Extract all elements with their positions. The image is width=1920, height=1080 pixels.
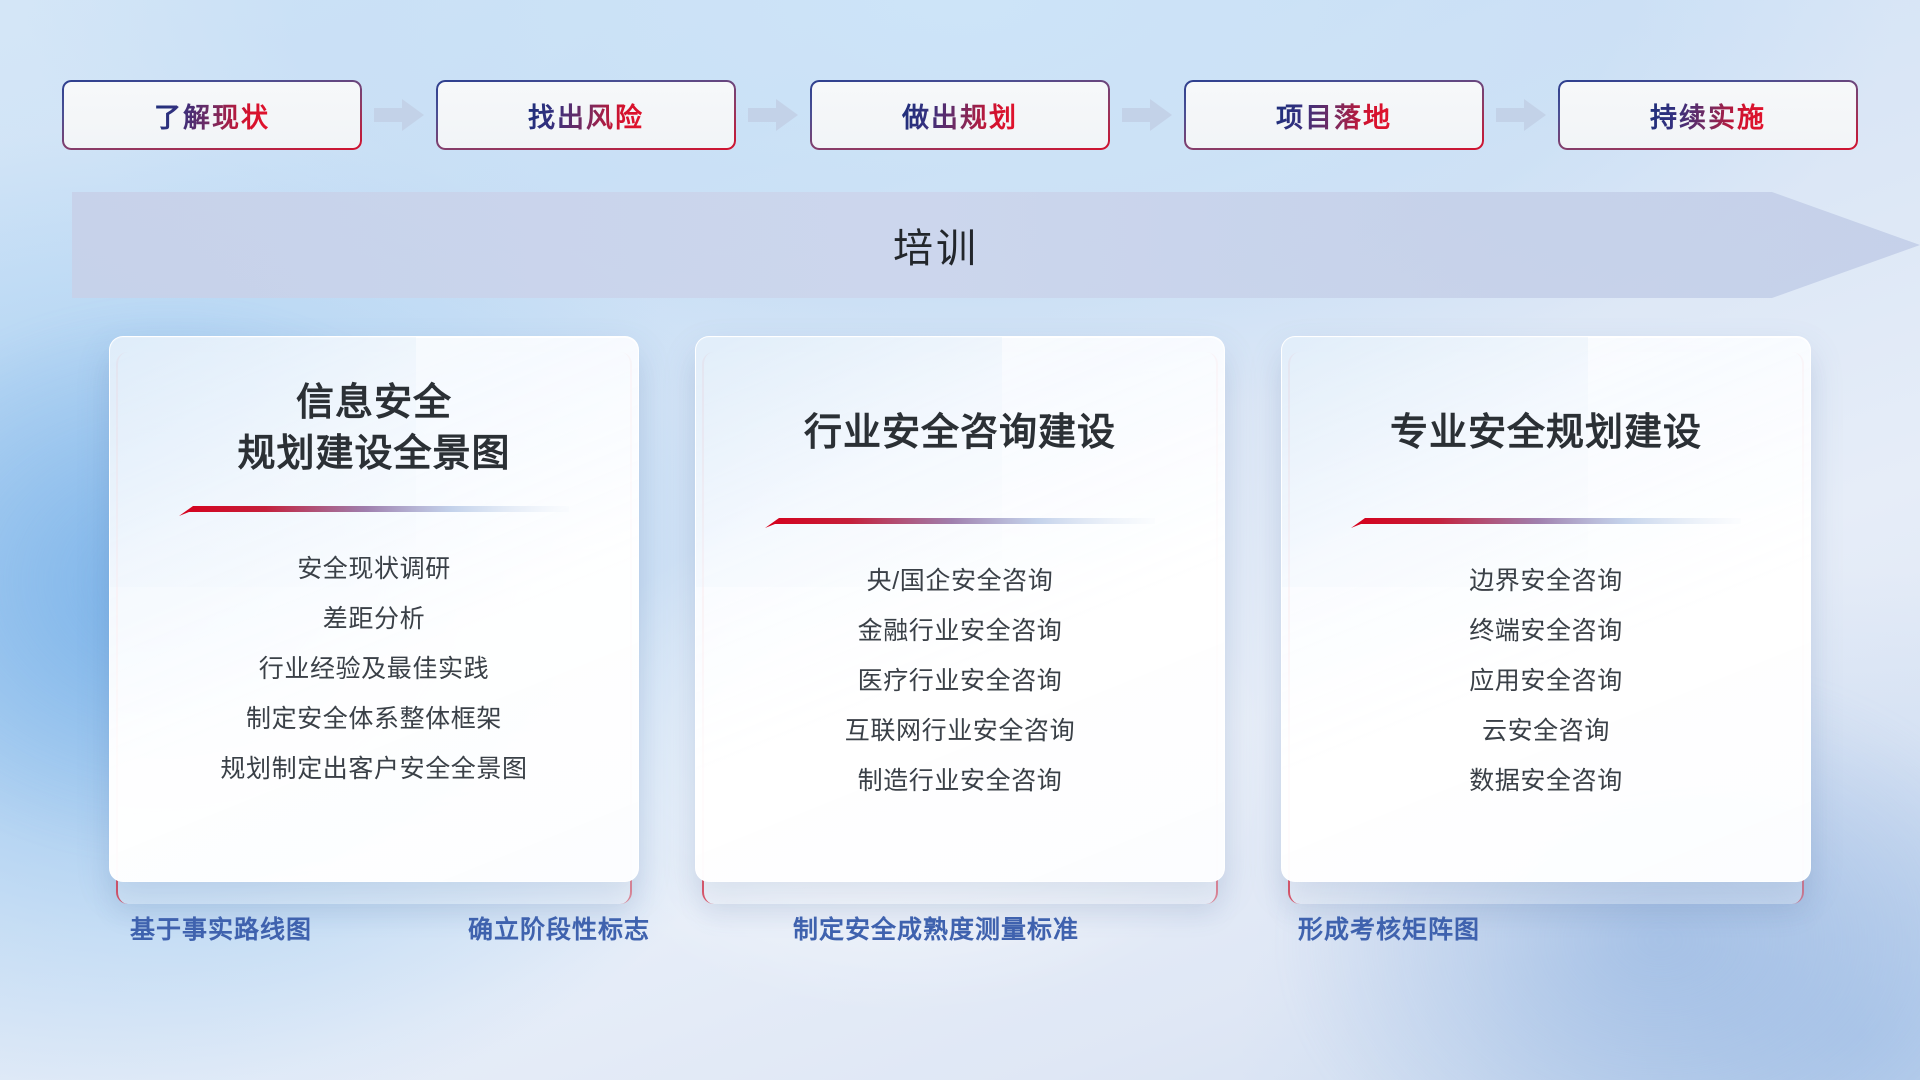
- card-1-divider: [179, 505, 569, 519]
- step-label-3: 做出规划: [902, 96, 1018, 135]
- list-item: 互联网行业安全咨询: [845, 711, 1075, 747]
- list-item: 应用安全咨询: [1469, 661, 1623, 697]
- list-item: 制定安全体系整体框架: [246, 699, 502, 735]
- card-2[interactable]: 行业安全咨询建设 央/国企安全咨询: [695, 336, 1225, 882]
- training-banner: 培训: [72, 192, 1920, 298]
- list-item: 金融行业安全咨询: [858, 611, 1063, 647]
- card-1-list: 安全现状调研 差距分析 行业经验及最佳实践 制定安全体系整体框架 规划制定出客户…: [220, 549, 527, 785]
- step-label-5: 持续实施: [1650, 96, 1766, 135]
- step-label-1: 了解现状: [154, 96, 270, 135]
- card-3[interactable]: 专业安全规划建设 边界安全咨询: [1281, 336, 1811, 882]
- list-item: 制造行业安全咨询: [858, 761, 1063, 797]
- step-box-1[interactable]: 了解现状: [62, 80, 362, 150]
- step-box-5[interactable]: 持续实施: [1558, 80, 1858, 150]
- card-2-divider: [765, 517, 1155, 531]
- step-box-4[interactable]: 项目落地: [1184, 80, 1484, 150]
- list-item: 数据安全咨询: [1469, 761, 1623, 797]
- footnote-2: 确立阶段性标志: [468, 910, 650, 946]
- step-label-4: 项目落地: [1276, 96, 1392, 135]
- card-1-title: 信息安全 规划建设全景图: [237, 378, 510, 479]
- card-3-divider: [1351, 517, 1741, 531]
- card-2-list: 央/国企安全咨询 金融行业安全咨询 医疗行业安全咨询 互联网行业安全咨询 制造行…: [845, 561, 1075, 797]
- list-item: 差距分析: [323, 599, 425, 635]
- step-box-3[interactable]: 做出规划: [810, 80, 1110, 150]
- step-label-2: 找出风险: [528, 96, 644, 135]
- footnote-row: 基于事实路线图 确立阶段性标志 制定安全成熟度测量标准 形成考核矩阵图: [0, 910, 1920, 956]
- footnote-4: 形成考核矩阵图: [1298, 910, 1480, 946]
- chevron-right-arrow-icon: [1494, 97, 1548, 133]
- card-2-title: 行业安全咨询建设: [804, 408, 1116, 459]
- footnote-1: 基于事实路线图: [130, 910, 312, 946]
- list-item: 终端安全咨询: [1469, 611, 1623, 647]
- card-row: 信息安全 规划建设全景图 安全现状调研: [0, 336, 1920, 882]
- list-item: 安全现状调研: [297, 549, 451, 585]
- list-item: 央/国企安全咨询: [867, 561, 1054, 597]
- footnote-3: 制定安全成熟度测量标准: [793, 910, 1079, 946]
- chevron-right-arrow-icon: [746, 97, 800, 133]
- step-box-2[interactable]: 找出风险: [436, 80, 736, 150]
- card-1[interactable]: 信息安全 规划建设全景图 安全现状调研: [109, 336, 639, 882]
- list-item: 边界安全咨询: [1469, 561, 1623, 597]
- card-3-list: 边界安全咨询 终端安全咨询 应用安全咨询 云安全咨询 数据安全咨询: [1469, 561, 1623, 797]
- list-item: 行业经验及最佳实践: [259, 649, 489, 685]
- card-3-title: 专业安全规划建设: [1390, 408, 1702, 459]
- chevron-right-arrow-icon: [1120, 97, 1174, 133]
- training-banner-label: 培训: [72, 192, 1800, 298]
- list-item: 医疗行业安全咨询: [858, 661, 1063, 697]
- process-step-row: 了解现状 找出风险 做出规划 项目落地 持续实施: [0, 78, 1920, 152]
- chevron-right-arrow-icon: [372, 97, 426, 133]
- list-item: 云安全咨询: [1482, 711, 1610, 747]
- list-item: 规划制定出客户安全全景图: [220, 749, 527, 785]
